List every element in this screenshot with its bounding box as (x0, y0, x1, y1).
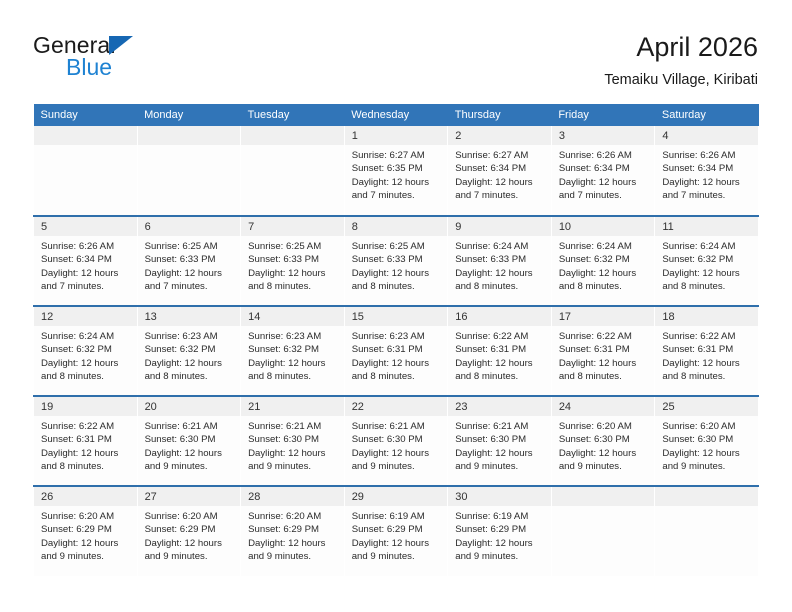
calendar-day-cell[interactable]: 8Sunrise: 6:25 AMSunset: 6:33 PMDaylight… (344, 216, 448, 306)
calendar-day-cell-empty (551, 486, 655, 576)
calendar-day-cell[interactable]: 20Sunrise: 6:21 AMSunset: 6:30 PMDayligh… (137, 396, 241, 486)
daylight-text-line1: Daylight: 12 hours (662, 176, 753, 189)
page-header: General Blue April 2026 Temaiku Village,… (33, 30, 758, 96)
daylight-text-line2: and 8 minutes. (455, 370, 546, 383)
calendar-day-cell[interactable]: 7Sunrise: 6:25 AMSunset: 6:33 PMDaylight… (241, 216, 345, 306)
day-details: Sunrise: 6:22 AMSunset: 6:31 PMDaylight:… (655, 326, 758, 384)
calendar-day-cell-empty (241, 126, 345, 216)
sunrise-text: Sunrise: 6:21 AM (248, 420, 339, 433)
day-details: Sunrise: 6:19 AMSunset: 6:29 PMDaylight:… (448, 506, 551, 564)
day-details: Sunrise: 6:25 AMSunset: 6:33 PMDaylight:… (345, 236, 448, 294)
daylight-text-line2: and 7 minutes. (455, 189, 546, 202)
sunrise-text: Sunrise: 6:27 AM (352, 149, 443, 162)
sunrise-text: Sunrise: 6:25 AM (352, 240, 443, 253)
sunrise-text: Sunrise: 6:22 AM (41, 420, 132, 433)
day-details: Sunrise: 6:21 AMSunset: 6:30 PMDaylight:… (345, 416, 448, 474)
calendar-body: 1Sunrise: 6:27 AMSunset: 6:35 PMDaylight… (34, 126, 759, 576)
sunrise-text: Sunrise: 6:20 AM (662, 420, 753, 433)
day-number: 28 (241, 487, 344, 506)
day-details: Sunrise: 6:24 AMSunset: 6:32 PMDaylight:… (34, 326, 137, 384)
daylight-text-line1: Daylight: 12 hours (662, 357, 753, 370)
sunrise-text: Sunrise: 6:21 AM (145, 420, 236, 433)
sunset-text: Sunset: 6:31 PM (455, 343, 546, 356)
title-block: April 2026 Temaiku Village, Kiribati (604, 30, 758, 91)
daylight-text-line2: and 9 minutes. (145, 460, 236, 473)
sunrise-text: Sunrise: 6:21 AM (455, 420, 546, 433)
day-details: Sunrise: 6:25 AMSunset: 6:33 PMDaylight:… (138, 236, 241, 294)
calendar-day-cell[interactable]: 28Sunrise: 6:20 AMSunset: 6:29 PMDayligh… (241, 486, 345, 576)
weekday-header-friday: Friday (551, 104, 655, 126)
day-details: Sunrise: 6:24 AMSunset: 6:32 PMDaylight:… (655, 236, 758, 294)
sunrise-text: Sunrise: 6:20 AM (559, 420, 650, 433)
sunset-text: Sunset: 6:34 PM (559, 162, 650, 175)
calendar-day-cell[interactable]: 30Sunrise: 6:19 AMSunset: 6:29 PMDayligh… (448, 486, 552, 576)
day-number (552, 487, 655, 506)
sunrise-text: Sunrise: 6:24 AM (455, 240, 546, 253)
calendar-week-row: 1Sunrise: 6:27 AMSunset: 6:35 PMDaylight… (34, 126, 759, 216)
day-details: Sunrise: 6:26 AMSunset: 6:34 PMDaylight:… (34, 236, 137, 294)
daylight-text-line1: Daylight: 12 hours (559, 357, 650, 370)
daylight-text-line2: and 8 minutes. (248, 370, 339, 383)
sunset-text: Sunset: 6:34 PM (455, 162, 546, 175)
daylight-text-line1: Daylight: 12 hours (248, 357, 339, 370)
sunrise-text: Sunrise: 6:22 AM (455, 330, 546, 343)
day-details: Sunrise: 6:21 AMSunset: 6:30 PMDaylight:… (138, 416, 241, 474)
daylight-text-line1: Daylight: 12 hours (352, 357, 443, 370)
day-details: Sunrise: 6:22 AMSunset: 6:31 PMDaylight:… (448, 326, 551, 384)
daylight-text-line2: and 8 minutes. (662, 370, 753, 383)
calendar-day-cell[interactable]: 16Sunrise: 6:22 AMSunset: 6:31 PMDayligh… (448, 306, 552, 396)
sunset-text: Sunset: 6:35 PM (352, 162, 443, 175)
sunrise-text: Sunrise: 6:24 AM (662, 240, 753, 253)
day-details: Sunrise: 6:27 AMSunset: 6:34 PMDaylight:… (448, 145, 551, 203)
daylight-text-line1: Daylight: 12 hours (41, 447, 132, 460)
daylight-text-line2: and 7 minutes. (662, 189, 753, 202)
sunrise-text: Sunrise: 6:23 AM (145, 330, 236, 343)
day-number: 16 (448, 307, 551, 326)
sunrise-text: Sunrise: 6:26 AM (559, 149, 650, 162)
calendar-week-row: 5Sunrise: 6:26 AMSunset: 6:34 PMDaylight… (34, 216, 759, 306)
weekday-header-thursday: Thursday (448, 104, 552, 126)
day-details: Sunrise: 6:26 AMSunset: 6:34 PMDaylight:… (655, 145, 758, 203)
daylight-text-line1: Daylight: 12 hours (662, 267, 753, 280)
sunrise-text: Sunrise: 6:24 AM (559, 240, 650, 253)
weekday-header-saturday: Saturday (655, 104, 759, 126)
day-details: Sunrise: 6:24 AMSunset: 6:33 PMDaylight:… (448, 236, 551, 294)
day-number: 19 (34, 397, 137, 416)
day-details: Sunrise: 6:23 AMSunset: 6:32 PMDaylight:… (241, 326, 344, 384)
daylight-text-line2: and 8 minutes. (41, 370, 132, 383)
sunset-text: Sunset: 6:31 PM (352, 343, 443, 356)
calendar-week-row: 19Sunrise: 6:22 AMSunset: 6:31 PMDayligh… (34, 396, 759, 486)
calendar-day-cell[interactable]: 18Sunrise: 6:22 AMSunset: 6:31 PMDayligh… (655, 306, 759, 396)
sunset-text: Sunset: 6:30 PM (455, 433, 546, 446)
day-number: 1 (345, 126, 448, 145)
calendar-day-cell[interactable]: 27Sunrise: 6:20 AMSunset: 6:29 PMDayligh… (137, 486, 241, 576)
calendar-day-cell[interactable]: 29Sunrise: 6:19 AMSunset: 6:29 PMDayligh… (344, 486, 448, 576)
day-number: 8 (345, 217, 448, 236)
sunrise-text: Sunrise: 6:20 AM (248, 510, 339, 523)
day-number: 3 (552, 126, 655, 145)
day-number: 7 (241, 217, 344, 236)
calendar-day-cell[interactable]: 14Sunrise: 6:23 AMSunset: 6:32 PMDayligh… (241, 306, 345, 396)
day-number: 13 (138, 307, 241, 326)
daylight-text-line2: and 8 minutes. (41, 460, 132, 473)
daylight-text-line2: and 8 minutes. (662, 280, 753, 293)
sunset-text: Sunset: 6:33 PM (352, 253, 443, 266)
daylight-text-line2: and 8 minutes. (248, 280, 339, 293)
sunrise-text: Sunrise: 6:20 AM (145, 510, 236, 523)
calendar-day-cell[interactable]: 11Sunrise: 6:24 AMSunset: 6:32 PMDayligh… (655, 216, 759, 306)
sunset-text: Sunset: 6:34 PM (41, 253, 132, 266)
day-details: Sunrise: 6:22 AMSunset: 6:31 PMDaylight:… (552, 326, 655, 384)
day-details: Sunrise: 6:23 AMSunset: 6:31 PMDaylight:… (345, 326, 448, 384)
calendar-day-cell[interactable]: 21Sunrise: 6:21 AMSunset: 6:30 PMDayligh… (241, 396, 345, 486)
calendar-day-cell[interactable]: 24Sunrise: 6:20 AMSunset: 6:30 PMDayligh… (551, 396, 655, 486)
daylight-text-line1: Daylight: 12 hours (41, 537, 132, 550)
daylight-text-line2: and 8 minutes. (352, 370, 443, 383)
sunset-text: Sunset: 6:29 PM (145, 523, 236, 536)
daylight-text-line1: Daylight: 12 hours (455, 357, 546, 370)
day-number: 29 (345, 487, 448, 506)
day-number: 22 (345, 397, 448, 416)
day-details: Sunrise: 6:22 AMSunset: 6:31 PMDaylight:… (34, 416, 137, 474)
daylight-text-line2: and 7 minutes. (559, 189, 650, 202)
daylight-text-line2: and 9 minutes. (248, 460, 339, 473)
sunset-text: Sunset: 6:30 PM (145, 433, 236, 446)
day-number: 12 (34, 307, 137, 326)
daylight-text-line2: and 7 minutes. (352, 189, 443, 202)
day-number: 9 (448, 217, 551, 236)
daylight-text-line1: Daylight: 12 hours (145, 267, 236, 280)
daylight-text-line2: and 8 minutes. (145, 370, 236, 383)
sunset-text: Sunset: 6:31 PM (559, 343, 650, 356)
sunset-text: Sunset: 6:34 PM (662, 162, 753, 175)
general-blue-logo[interactable]: General Blue (33, 30, 273, 90)
sunrise-text: Sunrise: 6:19 AM (455, 510, 546, 523)
daylight-text-line1: Daylight: 12 hours (662, 447, 753, 460)
weekday-header-tuesday: Tuesday (241, 104, 345, 126)
day-number: 23 (448, 397, 551, 416)
calendar-day-cell[interactable]: 9Sunrise: 6:24 AMSunset: 6:33 PMDaylight… (448, 216, 552, 306)
sunrise-text: Sunrise: 6:26 AM (662, 149, 753, 162)
daylight-text-line2: and 9 minutes. (41, 550, 132, 563)
day-details: Sunrise: 6:20 AMSunset: 6:29 PMDaylight:… (138, 506, 241, 564)
daylight-text-line1: Daylight: 12 hours (352, 537, 443, 550)
sunrise-text: Sunrise: 6:23 AM (352, 330, 443, 343)
calendar-day-cell[interactable]: 19Sunrise: 6:22 AMSunset: 6:31 PMDayligh… (34, 396, 138, 486)
sunset-text: Sunset: 6:30 PM (559, 433, 650, 446)
calendar-page: General Blue April 2026 Temaiku Village,… (0, 0, 792, 612)
daylight-text-line2: and 9 minutes. (559, 460, 650, 473)
day-number (138, 126, 241, 145)
day-number: 27 (138, 487, 241, 506)
sunrise-text: Sunrise: 6:19 AM (352, 510, 443, 523)
daylight-text-line2: and 9 minutes. (248, 550, 339, 563)
sunset-text: Sunset: 6:32 PM (248, 343, 339, 356)
day-details: Sunrise: 6:27 AMSunset: 6:35 PMDaylight:… (345, 145, 448, 203)
daylight-text-line1: Daylight: 12 hours (455, 537, 546, 550)
day-number (34, 126, 137, 145)
day-details: Sunrise: 6:23 AMSunset: 6:32 PMDaylight:… (138, 326, 241, 384)
daylight-text-line2: and 8 minutes. (352, 280, 443, 293)
day-details: Sunrise: 6:20 AMSunset: 6:30 PMDaylight:… (655, 416, 758, 474)
daylight-text-line1: Daylight: 12 hours (145, 447, 236, 460)
weekday-header-row: Sunday Monday Tuesday Wednesday Thursday… (34, 104, 759, 126)
calendar-grid: Sunday Monday Tuesday Wednesday Thursday… (33, 104, 759, 576)
calendar-day-cell[interactable]: 12Sunrise: 6:24 AMSunset: 6:32 PMDayligh… (34, 306, 138, 396)
daylight-text-line1: Daylight: 12 hours (248, 537, 339, 550)
day-number: 24 (552, 397, 655, 416)
sunset-text: Sunset: 6:32 PM (145, 343, 236, 356)
day-details: Sunrise: 6:21 AMSunset: 6:30 PMDaylight:… (241, 416, 344, 474)
calendar-day-cell[interactable]: 22Sunrise: 6:21 AMSunset: 6:30 PMDayligh… (344, 396, 448, 486)
daylight-text-line2: and 9 minutes. (352, 460, 443, 473)
logo-triangle-icon (109, 36, 133, 55)
day-number: 2 (448, 126, 551, 145)
daylight-text-line1: Daylight: 12 hours (352, 447, 443, 460)
sunset-text: Sunset: 6:32 PM (559, 253, 650, 266)
calendar-day-cell[interactable]: 26Sunrise: 6:20 AMSunset: 6:29 PMDayligh… (34, 486, 138, 576)
daylight-text-line2: and 9 minutes. (662, 460, 753, 473)
day-details: Sunrise: 6:24 AMSunset: 6:32 PMDaylight:… (552, 236, 655, 294)
calendar-day-cell[interactable]: 25Sunrise: 6:20 AMSunset: 6:30 PMDayligh… (655, 396, 759, 486)
day-details: Sunrise: 6:20 AMSunset: 6:29 PMDaylight:… (241, 506, 344, 564)
weekday-header-wednesday: Wednesday (344, 104, 448, 126)
day-number: 21 (241, 397, 344, 416)
sunset-text: Sunset: 6:31 PM (41, 433, 132, 446)
day-number: 14 (241, 307, 344, 326)
sunrise-text: Sunrise: 6:26 AM (41, 240, 132, 253)
sunrise-text: Sunrise: 6:25 AM (248, 240, 339, 253)
sunrise-text: Sunrise: 6:21 AM (352, 420, 443, 433)
day-number: 20 (138, 397, 241, 416)
calendar-week-row: 12Sunrise: 6:24 AMSunset: 6:32 PMDayligh… (34, 306, 759, 396)
sunset-text: Sunset: 6:30 PM (662, 433, 753, 446)
day-number (241, 126, 344, 145)
calendar-day-cell[interactable]: 6Sunrise: 6:25 AMSunset: 6:33 PMDaylight… (137, 216, 241, 306)
daylight-text-line1: Daylight: 12 hours (455, 447, 546, 460)
day-details: Sunrise: 6:25 AMSunset: 6:33 PMDaylight:… (241, 236, 344, 294)
daylight-text-line1: Daylight: 12 hours (145, 357, 236, 370)
daylight-text-line2: and 7 minutes. (145, 280, 236, 293)
weekday-header-sunday: Sunday (34, 104, 138, 126)
calendar-day-cell[interactable]: 2Sunrise: 6:27 AMSunset: 6:34 PMDaylight… (448, 126, 552, 216)
calendar-day-cell[interactable]: 4Sunrise: 6:26 AMSunset: 6:34 PMDaylight… (655, 126, 759, 216)
day-details: Sunrise: 6:20 AMSunset: 6:30 PMDaylight:… (552, 416, 655, 474)
sunrise-text: Sunrise: 6:24 AM (41, 330, 132, 343)
calendar-day-cell[interactable]: 17Sunrise: 6:22 AMSunset: 6:31 PMDayligh… (551, 306, 655, 396)
calendar-day-cell-empty (34, 126, 138, 216)
daylight-text-line2: and 9 minutes. (455, 550, 546, 563)
sunset-text: Sunset: 6:33 PM (248, 253, 339, 266)
sunrise-text: Sunrise: 6:22 AM (559, 330, 650, 343)
sunrise-text: Sunrise: 6:20 AM (41, 510, 132, 523)
day-number: 4 (655, 126, 758, 145)
daylight-text-line1: Daylight: 12 hours (455, 267, 546, 280)
sunset-text: Sunset: 6:33 PM (145, 253, 236, 266)
sunset-text: Sunset: 6:30 PM (248, 433, 339, 446)
calendar-day-cell[interactable]: 5Sunrise: 6:26 AMSunset: 6:34 PMDaylight… (34, 216, 138, 306)
calendar-week-row: 26Sunrise: 6:20 AMSunset: 6:29 PMDayligh… (34, 486, 759, 576)
day-details: Sunrise: 6:19 AMSunset: 6:29 PMDaylight:… (345, 506, 448, 564)
daylight-text-line1: Daylight: 12 hours (248, 447, 339, 460)
day-number: 17 (552, 307, 655, 326)
weekday-header-monday: Monday (137, 104, 241, 126)
sunset-text: Sunset: 6:29 PM (41, 523, 132, 536)
day-number: 11 (655, 217, 758, 236)
sunset-text: Sunset: 6:30 PM (352, 433, 443, 446)
daylight-text-line2: and 8 minutes. (559, 370, 650, 383)
sunrise-text: Sunrise: 6:22 AM (662, 330, 753, 343)
calendar-day-cell[interactable]: 13Sunrise: 6:23 AMSunset: 6:32 PMDayligh… (137, 306, 241, 396)
logo-text-blue: Blue (66, 54, 112, 80)
daylight-text-line2: and 9 minutes. (145, 550, 236, 563)
page-title: April 2026 (604, 30, 758, 64)
day-number: 18 (655, 307, 758, 326)
daylight-text-line1: Daylight: 12 hours (41, 357, 132, 370)
daylight-text-line1: Daylight: 12 hours (145, 537, 236, 550)
calendar-day-cell[interactable]: 1Sunrise: 6:27 AMSunset: 6:35 PMDaylight… (344, 126, 448, 216)
day-number: 6 (138, 217, 241, 236)
day-number: 26 (34, 487, 137, 506)
sunset-text: Sunset: 6:29 PM (455, 523, 546, 536)
calendar-day-cell[interactable]: 23Sunrise: 6:21 AMSunset: 6:30 PMDayligh… (448, 396, 552, 486)
calendar-day-cell[interactable]: 10Sunrise: 6:24 AMSunset: 6:32 PMDayligh… (551, 216, 655, 306)
sunrise-text: Sunrise: 6:27 AM (455, 149, 546, 162)
daylight-text-line2: and 9 minutes. (455, 460, 546, 473)
sunrise-text: Sunrise: 6:25 AM (145, 240, 236, 253)
sunset-text: Sunset: 6:32 PM (41, 343, 132, 356)
day-details: Sunrise: 6:26 AMSunset: 6:34 PMDaylight:… (552, 145, 655, 203)
daylight-text-line1: Daylight: 12 hours (559, 176, 650, 189)
daylight-text-line1: Daylight: 12 hours (352, 176, 443, 189)
day-number: 10 (552, 217, 655, 236)
daylight-text-line1: Daylight: 12 hours (352, 267, 443, 280)
day-number: 5 (34, 217, 137, 236)
calendar-day-cell-empty (655, 486, 759, 576)
calendar-day-cell[interactable]: 3Sunrise: 6:26 AMSunset: 6:34 PMDaylight… (551, 126, 655, 216)
sunset-text: Sunset: 6:33 PM (455, 253, 546, 266)
daylight-text-line2: and 8 minutes. (559, 280, 650, 293)
daylight-text-line2: and 7 minutes. (41, 280, 132, 293)
calendar-day-cell-empty (137, 126, 241, 216)
daylight-text-line2: and 8 minutes. (455, 280, 546, 293)
sunset-text: Sunset: 6:29 PM (248, 523, 339, 536)
daylight-text-line1: Daylight: 12 hours (455, 176, 546, 189)
daylight-text-line1: Daylight: 12 hours (559, 447, 650, 460)
sunset-text: Sunset: 6:31 PM (662, 343, 753, 356)
page-subtitle: Temaiku Village, Kiribati (604, 69, 758, 91)
sunset-text: Sunset: 6:29 PM (352, 523, 443, 536)
day-details: Sunrise: 6:21 AMSunset: 6:30 PMDaylight:… (448, 416, 551, 474)
day-number: 25 (655, 397, 758, 416)
sunset-text: Sunset: 6:32 PM (662, 253, 753, 266)
sunrise-text: Sunrise: 6:23 AM (248, 330, 339, 343)
daylight-text-line1: Daylight: 12 hours (559, 267, 650, 280)
daylight-text-line2: and 9 minutes. (352, 550, 443, 563)
day-number: 15 (345, 307, 448, 326)
day-number: 30 (448, 487, 551, 506)
calendar-day-cell[interactable]: 15Sunrise: 6:23 AMSunset: 6:31 PMDayligh… (344, 306, 448, 396)
daylight-text-line1: Daylight: 12 hours (41, 267, 132, 280)
day-number (655, 487, 758, 506)
daylight-text-line1: Daylight: 12 hours (248, 267, 339, 280)
day-details: Sunrise: 6:20 AMSunset: 6:29 PMDaylight:… (34, 506, 137, 564)
